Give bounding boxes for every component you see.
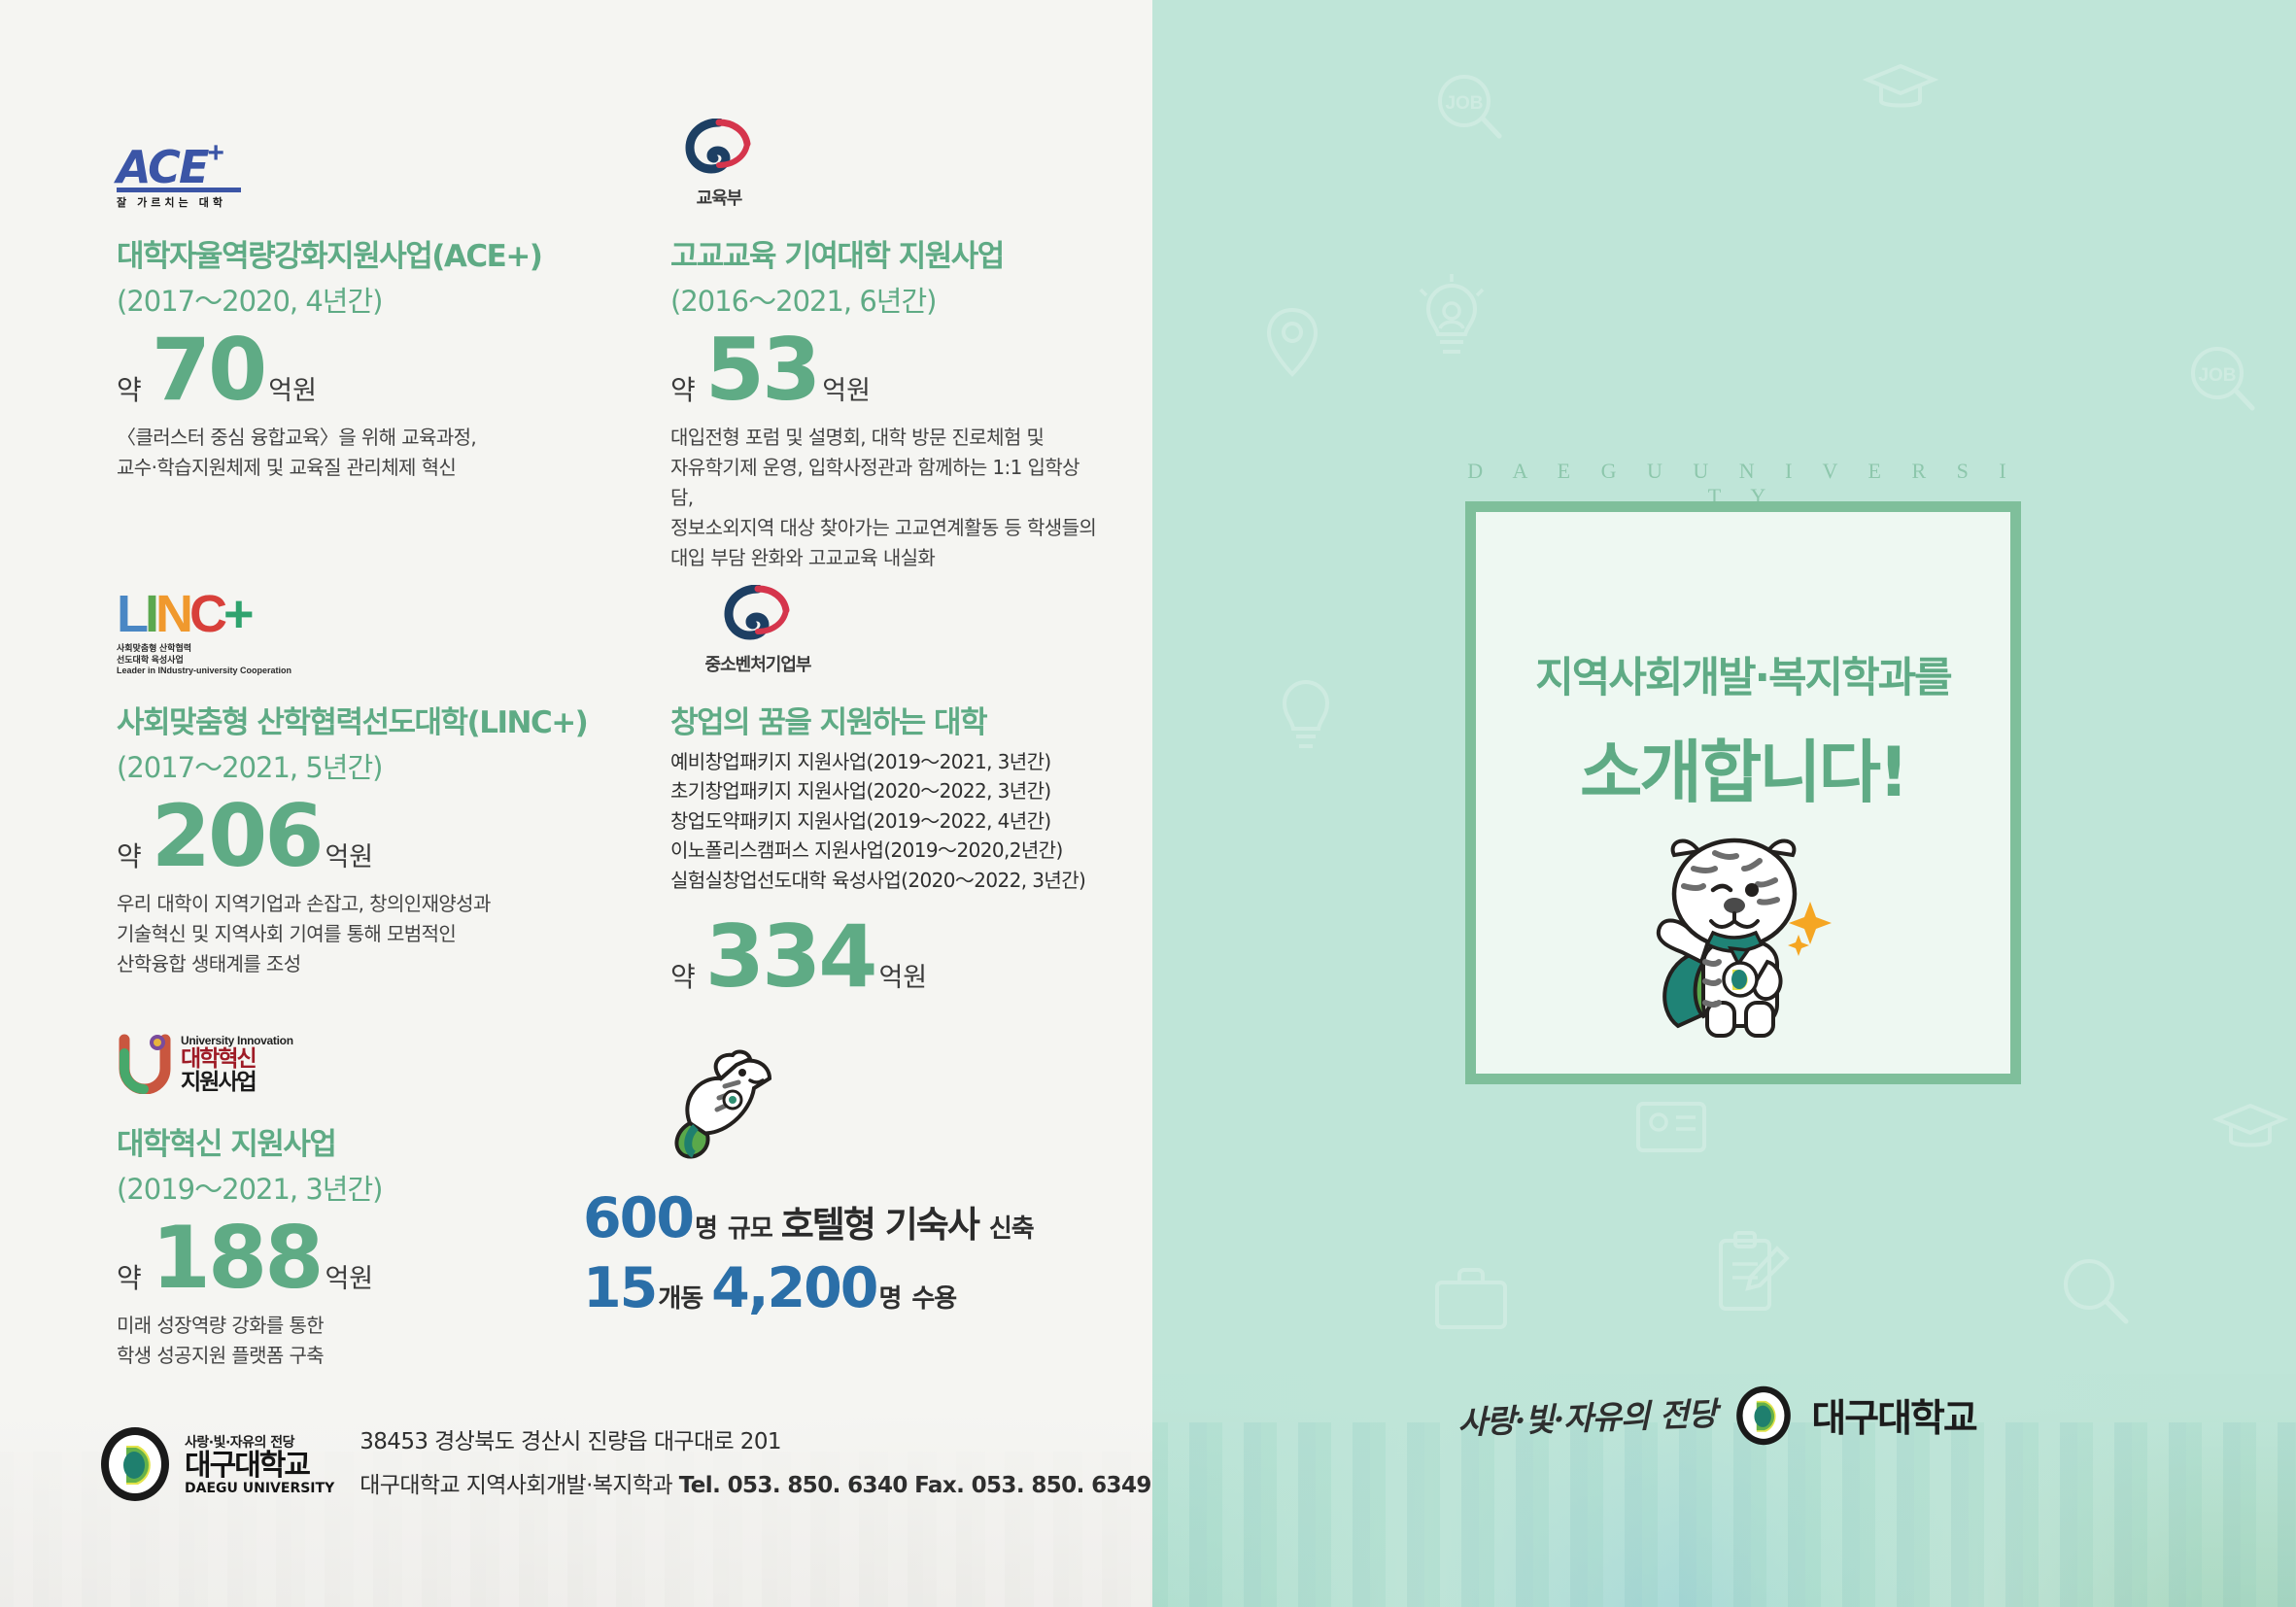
program-block-university-innovation: University Innovation 대학혁신 지원사업 대학혁신 지원사… [117, 1001, 622, 1371]
daegu-university-seal-icon-2 [1733, 1385, 1794, 1446]
program-title: 창업의 꿈을 지원하는 대학 [670, 698, 1098, 741]
korea-government-emblem-icon-2 [722, 585, 794, 643]
program-description: 〈클러스터 중심 융합교육〉을 위해 교육과정, 교수·학습지원체제 및 교육질… [117, 423, 622, 483]
program-period: (2017〜2021, 5년간) [117, 745, 641, 786]
footer-telephone[interactable]: Tel. 053. 850. 6340 Fax. 053. 850. 6349 [679, 1473, 1151, 1498]
amount-approx-label: 약 [117, 1257, 142, 1296]
moe-logo: 교육부 [670, 117, 1098, 210]
dorm-building-count: 15 [583, 1256, 656, 1320]
ministry-name: 중소벤처기업부 [670, 651, 845, 676]
dormitory-line-2: 15 개동 4,200 명 수용 [583, 1256, 1088, 1320]
amount-value: 334 [705, 916, 875, 998]
program-period: (2017〜2020, 4년간) [117, 279, 622, 320]
svg-text:JOB: JOB [2198, 365, 2236, 386]
footer: 사랑·빛·자유의 전당 대구대학교 DAEGU UNIVERSITY 38453… [97, 1420, 1151, 1508]
graduation-cap-icon-2 [2211, 1098, 2289, 1160]
graduation-cap-icon [1862, 58, 1939, 120]
logo-korean-line2: 지원사업 [181, 1070, 293, 1094]
program-block-ace: ACE + 잘 가르치는 대학 대학자율역량강화지원사업(ACE+) (2017… [117, 117, 622, 483]
linc-logo-subtitle: 사회맞춤형 산학협력 선도대학 육성사업 Leader in INdustry-… [117, 643, 291, 676]
u-letter-icon [117, 1034, 173, 1094]
footer-contact-block: 38453 경상북도 경산시 진량읍 대구대로 201 대구대학교 지역사회개발… [360, 1420, 1151, 1508]
sub-item: 예비창업패키지 지원사업(2019〜2021, 3년간) [670, 747, 1098, 776]
daegu-university-seal-icon [97, 1426, 173, 1502]
cover-headline-line2: 소개합니다! [1580, 718, 1906, 816]
footer-department: 대구대학교 지역사회개발·복지학과 [360, 1473, 672, 1498]
clipboard-pen-icon [1711, 1229, 1799, 1321]
dorm-capacity-unit: 명 [695, 1209, 717, 1245]
inside-spread-panel: ACE + 잘 가르치는 대학 대학자율역량강화지원사업(ACE+) (2017… [0, 0, 1152, 1607]
university-innovation-logo: University Innovation 대학혁신 지원사업 [117, 1001, 622, 1094]
program-block-linc: LINC+ 사회맞춤형 산학협력 선도대학 육성사업 Leader in INd… [117, 583, 641, 979]
cover-university-name: 대구대학교 [1811, 1388, 1975, 1443]
location-pin-icon [1264, 306, 1320, 380]
program-title: 대학자율역량강화지원사업(ACE+) [117, 231, 622, 275]
seal-university-name: 대구대학교 [185, 1452, 334, 1481]
dorm-scale-label: 규모 [728, 1209, 772, 1245]
program-description: 미래 성장역량 강화를 통한 학생 성공지원 플랫폼 구축 [117, 1311, 622, 1371]
mss-logo: 중소벤처기업부 [670, 583, 1098, 676]
footer-address: 38453 경상북도 경산시 진량읍 대구대로 201 [360, 1420, 1151, 1464]
amount-unit: 억원 [325, 836, 373, 873]
sub-item: 초기창업패키지 지원사업(2020〜2022, 3년간) [670, 776, 1098, 805]
dorm-total-capacity: 4,200 [711, 1256, 876, 1320]
standing-tiger-mascot [1631, 826, 1855, 1074]
amount-unit: 억원 [325, 1257, 373, 1295]
briefcase-icon [1429, 1263, 1513, 1335]
slogan-calligraphy: 사랑·빛·자유의 전당 [1456, 1387, 1717, 1443]
ace-logo-plus: + [207, 137, 224, 170]
program-description: 대입전형 포럼 및 설명회, 대학 방문 진로체험 및 자유학기제 운영, 입학… [670, 423, 1098, 573]
korea-government-emblem-icon [683, 119, 755, 177]
magnifier-icon [2056, 1253, 2138, 1335]
dormitory-line-1: 600 명 규모 호텔형 기숙사 신축 [583, 1186, 1088, 1250]
cover-headline-line1: 지역사회개발·복지학과를 [1535, 644, 1951, 704]
amount-unit: 억원 [878, 956, 927, 994]
sub-item: 실험실창업선도대학 육성사업(2020〜2022, 3년간) [670, 866, 1098, 895]
dorm-total-unit: 명 [878, 1279, 901, 1315]
lightbulb-person-icon [1405, 272, 1498, 379]
daegu-university-mark: 사랑·빛·자유의 전당 대구대학교 DAEGU UNIVERSITY [97, 1426, 334, 1502]
amount-value: 206 [152, 796, 322, 877]
amount-unit: 억원 [268, 369, 317, 407]
seal-university-name-en: DAEGU UNIVERSITY [185, 1481, 334, 1496]
ministry-name: 교육부 [670, 185, 768, 210]
amount-unit: 억원 [822, 369, 871, 407]
program-amount: 약 206 억원 [117, 796, 641, 877]
program-block-moe: 교육부 고교교육 기여대학 지원사업 (2016〜2021, 6년간) 약 53… [670, 117, 1098, 573]
amount-approx-label: 약 [670, 956, 696, 995]
program-block-startup: 중소벤처기업부 창업의 꿈을 지원하는 대학 예비창업패키지 지원사업(2019… [670, 583, 1098, 998]
dorm-status-label: 신축 [989, 1209, 1034, 1245]
dormitory-block: 600 명 규모 호텔형 기숙사 신축 15 개동 4,200 명 수용 [583, 1030, 1088, 1320]
program-title: 대학혁신 지원사업 [117, 1119, 622, 1163]
amount-approx-label: 약 [117, 836, 142, 874]
dorm-type-label: 호텔형 기숙사 [781, 1195, 978, 1248]
program-amount: 약 188 억원 [117, 1217, 622, 1299]
amount-value: 53 [705, 329, 818, 411]
program-title: 사회맞춤형 산학협력선도대학(LINC+) [117, 698, 641, 741]
svg-text:JOB: JOB [1445, 93, 1483, 114]
amount-approx-label: 약 [670, 369, 696, 408]
amount-value: 70 [152, 329, 264, 411]
job-search-icon: JOB [1429, 68, 1511, 150]
sub-item: 창업도약패키지 지원사업(2019〜2022, 4년간) [670, 806, 1098, 836]
linc-plus-logo: LINC+ 사회맞춤형 산학협력 선도대학 육성사업 Leader in INd… [117, 583, 641, 676]
program-amount: 약 70 억원 [117, 329, 622, 411]
job-search-icon-2: JOB [2182, 340, 2264, 422]
program-sub-item-list: 예비창업패키지 지원사업(2019〜2021, 3년간) 초기창업패키지 지원사… [670, 747, 1098, 895]
program-amount: 약 53 억원 [670, 329, 1098, 411]
program-description: 우리 대학이 지역기업과 손잡고, 창의인재양성과 기술혁신 및 지역사회 기여… [117, 889, 641, 979]
amount-approx-label: 약 [117, 369, 142, 408]
program-title: 고교교육 기여대학 지원사업 [670, 231, 1098, 275]
sub-item: 이노폴리스캠퍼스 지원사업(2019〜2020,2년간) [670, 836, 1098, 865]
logo-korean-line1: 대학혁신 [181, 1047, 293, 1070]
program-amount: 약 334 억원 [670, 916, 1098, 998]
flying-tiger-mascot [661, 1030, 1088, 1180]
id-card-icon [1633, 1098, 1709, 1156]
program-period: (2016〜2021, 6년간) [670, 279, 1098, 320]
cover-card: 지역사회개발·복지학과를 소개합니다! [1465, 501, 2021, 1084]
brochure-page: ACE + 잘 가르치는 대학 대학자율역량강화지원사업(ACE+) (2017… [0, 0, 2296, 1607]
cover-footer-logo: 사랑·빛·자유의 전당 대구대학교 [1457, 1372, 2040, 1459]
amount-value: 188 [152, 1217, 322, 1299]
program-period: (2019〜2021, 3년간) [117, 1167, 622, 1208]
dorm-capacity-value: 600 [583, 1186, 693, 1250]
ace-plus-logo: ACE + 잘 가르치는 대학 [117, 117, 622, 210]
dorm-accommodate-label: 수용 [911, 1279, 956, 1315]
dorm-building-unit: 개동 [658, 1279, 703, 1315]
lightbulb-icon [1267, 670, 1345, 768]
ace-logo-subtitle: 잘 가르치는 대학 [117, 194, 241, 210]
ace-logo-text: ACE [117, 141, 207, 193]
